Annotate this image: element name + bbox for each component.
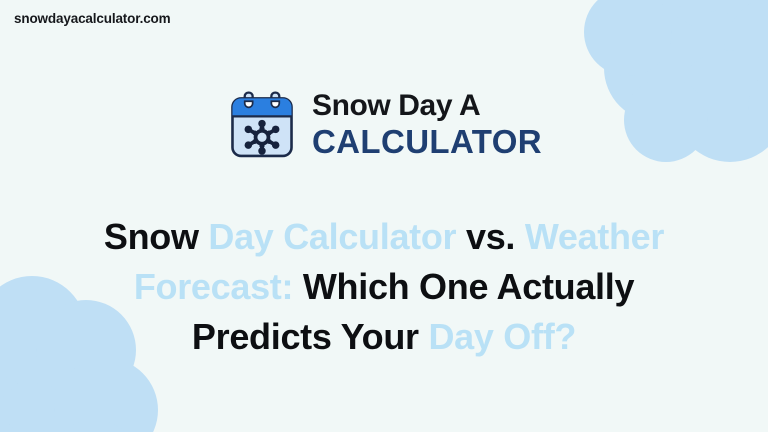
headline-segment: vs. [466, 216, 525, 257]
logo-wordmark: Snow Day A CALCULATOR [312, 90, 542, 160]
logo-text-snow-day-a: Snow Day A [312, 90, 542, 122]
calendar-snowflake-icon [226, 89, 298, 161]
logo-text-calculator: CALCULATOR [312, 124, 542, 160]
brand-logo: Snow Day A CALCULATOR [0, 89, 768, 161]
headline-segment: Snow [104, 216, 209, 257]
headline-segment: Day Off? [428, 316, 576, 357]
page-title: Snow Day Calculator vs. Weather Forecast… [64, 212, 704, 362]
hero-banner: snowdayacalculator.com [0, 0, 768, 432]
headline-segment: Day Calculator [208, 216, 466, 257]
site-domain-label: snowdayacalculator.com [14, 11, 171, 26]
